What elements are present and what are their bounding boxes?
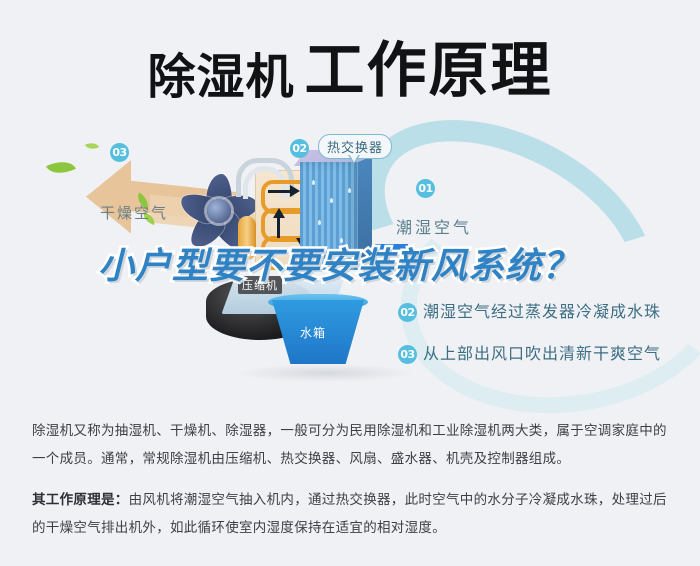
- ground-shadow: [236, 364, 416, 382]
- water-droplet: [340, 238, 343, 243]
- body-paragraph-2: 其工作原理是：由风机将潮湿空气抽入机内，通过热交换器，此时空气中的水分子冷凝成水…: [32, 487, 672, 542]
- step-badge-03: 03: [398, 345, 417, 364]
- step-bullet-02: 02潮湿空气经过蒸发器冷凝成水珠: [398, 298, 661, 322]
- dry-air-label: 干燥空气: [100, 202, 168, 223]
- overlay-headline: 小户型要不要安装新风系统？: [98, 248, 618, 287]
- water-droplet: [348, 188, 351, 193]
- step-bullet-02-text: 潮湿空气经过蒸发器冷凝成水珠: [423, 302, 661, 321]
- water-droplet: [330, 198, 333, 203]
- leaf-icon: [46, 155, 76, 180]
- step-badge-01: 01: [416, 179, 435, 198]
- infographic-page: 除湿机工作原理: [0, 0, 700, 566]
- flow-arrow-shaft: [277, 216, 280, 238]
- humid-air-badge-group: 01: [416, 178, 435, 198]
- title-part-one: 除湿机: [147, 49, 294, 105]
- fan-hub: [207, 199, 231, 223]
- body-paragraph-1: 除湿机又称为抽湿机、干燥机、除湿器，一般可分为民用除湿机和工业除湿机两大类，属于…: [32, 418, 672, 473]
- step-badge-02: 02: [290, 139, 309, 158]
- flow-arrow-shaft: [268, 190, 290, 193]
- title-part-two: 工作原理: [305, 36, 553, 106]
- callout-pointer-inner-icon: [349, 154, 359, 162]
- flow-arrow-right-icon: [290, 185, 300, 197]
- heat-exchanger-badge-group: 02: [290, 138, 309, 158]
- step-badge-03: 03: [110, 143, 129, 162]
- body-paragraph-2-label: 其工作原理是：: [32, 492, 129, 508]
- leaf-icon: [85, 140, 99, 152]
- step-badge-02: 02: [398, 303, 417, 322]
- water-tank-label: 水箱: [300, 324, 326, 341]
- water-droplet: [318, 220, 321, 225]
- step-bullet-03-text: 从上部出风口吹出清新干爽空气: [423, 344, 661, 363]
- page-title: 除湿机工作原理: [0, 22, 700, 109]
- step-bullet-03: 03从上部出风口吹出清新干爽空气: [398, 340, 661, 364]
- article-body: 除湿机又称为抽湿机、干燥机、除湿器，一般可分为民用除湿机和工业除湿机两大类，属于…: [32, 418, 672, 557]
- water-droplet: [312, 180, 315, 185]
- flow-arrow-up-icon: [273, 208, 285, 218]
- dry-air-badge-group: 03: [110, 142, 129, 162]
- humid-air-label: 潮湿空气: [396, 214, 472, 238]
